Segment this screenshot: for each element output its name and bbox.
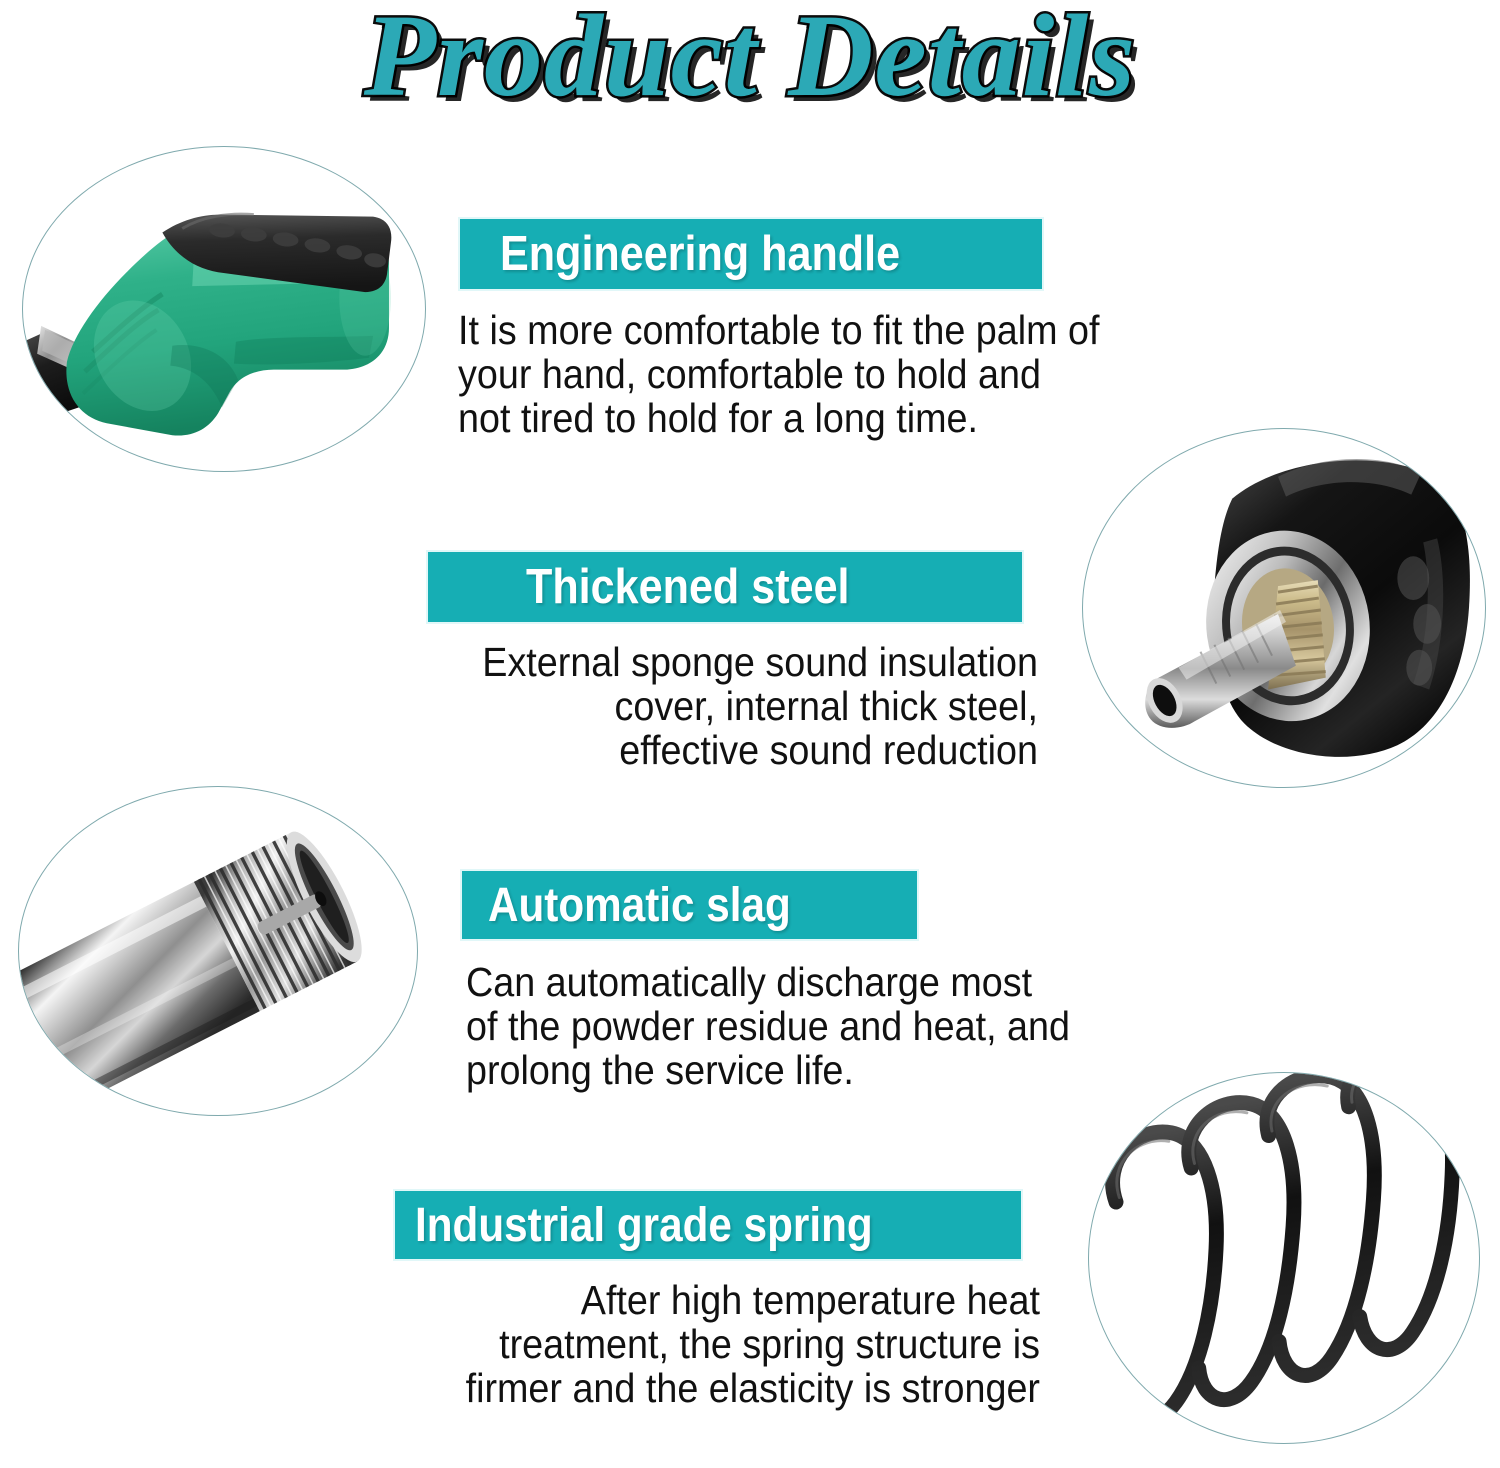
green-pistol-grip-handle-photo [22, 146, 426, 472]
section-heading-industrial-grade-spring: Industrial grade spring [415, 1198, 873, 1253]
section-heading-automatic-slag: Automatic slag [488, 878, 791, 933]
section-heading-bar-thickened-steel: Thickened steel [428, 552, 1022, 622]
chrome-threaded-steel-tube-photo [18, 786, 418, 1116]
section-heading-bar-engineering-handle: Engineering handle [460, 219, 1042, 289]
section-heading-bar-industrial-grade-spring: Industrial grade spring [395, 1191, 1021, 1259]
black-coil-spring-photo [1088, 1072, 1480, 1444]
section-body-thickened-steel: External sponge sound insulation cover, … [468, 640, 1038, 772]
black-chuck-with-threaded-nozzle-photo [1082, 428, 1486, 788]
section-heading-thickened-steel: Thickened steel [526, 559, 850, 615]
section-body-automatic-slag: Can automatically discharge most of the … [466, 960, 1073, 1092]
section-body-engineering-handle: It is more comfortable to fit the palm o… [458, 308, 1102, 440]
page-title: Product Details [0, 0, 1500, 116]
section-heading-bar-automatic-slag: Automatic slag [462, 871, 917, 939]
section-heading-engineering-handle: Engineering handle [500, 226, 900, 282]
section-body-industrial-grade-spring: After high temperature heat treatment, t… [460, 1278, 1040, 1410]
